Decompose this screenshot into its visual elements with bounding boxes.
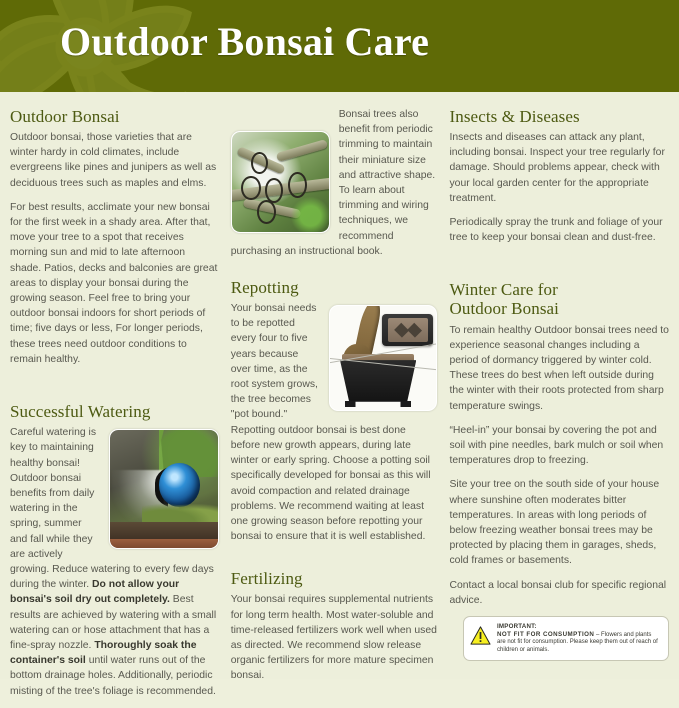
paragraph-insects-1: Insects and diseases can attack any plan… [449,130,669,206]
heading-outdoor-bonsai: Outdoor Bonsai [10,107,219,126]
paragraph-fertilizing: Your bonsai requires supplemental nutrie… [231,592,438,683]
spacer [10,376,219,402]
warning-line-2: NOT FIT FOR CONSUMPTION [497,631,594,638]
page-title: Outdoor Bonsai Care [60,18,429,65]
winter-care-line-2: Outdoor Bonsai [449,299,559,318]
paragraph-outdoor-bonsai-1: Outdoor bonsai, those varieties that are… [10,130,219,191]
column-middle: Bonsai trees also benefit from periodic … [231,107,450,708]
heading-insects-diseases: Insects & Diseases [449,107,669,126]
warning-text: IMPORTANT: NOT FIT FOR CONSUMPTION – Flo… [497,623,661,654]
paragraph-outdoor-bonsai-2: For best results, acclimate your new bon… [10,200,219,367]
winter-care-line-1: Winter Care for [449,280,557,299]
spacer [231,268,438,278]
heading-successful-watering: Successful Watering [10,402,219,421]
repotting-photo [329,305,437,411]
column-left: Outdoor Bonsai Outdoor bonsai, those var… [10,107,231,708]
heading-fertilizing: Fertilizing [231,569,438,588]
important-warning-box: IMPORTANT: NOT FIT FOR CONSUMPTION – Flo… [463,616,669,661]
warning-line-1: IMPORTANT: [497,623,661,631]
heading-repotting: Repotting [231,278,438,297]
warning-triangle-icon [470,626,491,645]
paragraph-insects-2: Periodically spray the trunk and foliage… [449,215,669,245]
spacer [231,553,438,569]
heading-winter-care: Winter Care forOutdoor Bonsai [449,280,669,318]
watering-photo [109,429,219,549]
paragraph-winter-4: Contact a local bonsai club for specific… [449,578,669,608]
paragraph-winter-2: “Heel-in” your bonsai by covering the po… [449,423,669,469]
spacer [449,254,669,280]
paragraph-winter-1: To remain healthy Outdoor bonsai trees n… [449,323,669,414]
paragraph-winter-3: Site your tree on the south side of your… [449,477,669,568]
page-root: Outdoor Bonsai Care Outdoor Bonsai Outdo… [0,0,679,679]
trimming-photo [231,131,330,233]
page-header: Outdoor Bonsai Care [0,0,679,92]
